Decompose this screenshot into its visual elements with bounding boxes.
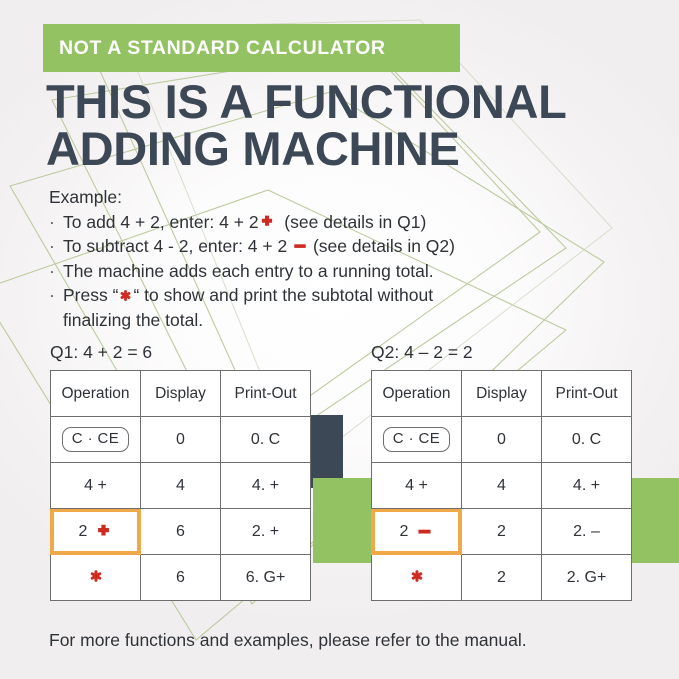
- cell-display: 6: [141, 555, 221, 601]
- cell-operation: C · CE: [51, 417, 141, 463]
- operand-value: 2: [79, 523, 88, 541]
- cell-printout: 2. G+: [542, 555, 632, 601]
- calc-table-q2: Operation Display Print-Out C · CE 0 0. …: [371, 370, 632, 601]
- footer-note: For more functions and examples, please …: [49, 630, 527, 651]
- clear-entry-key[interactable]: C · CE: [62, 427, 129, 451]
- example-bullet-4: ·Press “ “ to show and print the subtota…: [49, 283, 649, 332]
- plus-key-icon: [95, 523, 112, 540]
- page-title-line-2: ADDING MACHINE: [46, 125, 656, 172]
- star-key-icon: [88, 568, 104, 584]
- cell-printout: 2. –: [542, 509, 632, 555]
- page-title-line-1: THIS IS A FUNCTIONAL: [46, 78, 656, 125]
- table-row: C · CE 0 0. C: [372, 417, 632, 463]
- table-row: 4 + 4 4. +: [51, 463, 311, 509]
- cell-display: 2: [462, 555, 542, 601]
- cell-printout: 6. G+: [221, 555, 311, 601]
- column-header-operation: Operation: [372, 371, 462, 417]
- bullet-2-text-after: (see details in Q2): [313, 236, 455, 256]
- banner-label: NOT A STANDARD CALCULATOR: [43, 37, 386, 60]
- cell-printout: 4. +: [221, 463, 311, 509]
- bullet-dot: ·: [49, 210, 63, 235]
- operation-entry: 2: [79, 523, 113, 541]
- table-row: 6 6. G+: [51, 555, 311, 601]
- minus-key-icon: [416, 523, 433, 540]
- table-block-q2: Q2: 4 – 2 = 2 Operation Display Print-Ou…: [371, 342, 632, 601]
- cell-operation: [51, 555, 141, 601]
- column-header-display: Display: [462, 371, 542, 417]
- column-header-operation: Operation: [51, 371, 141, 417]
- table-caption-q1: Q1: 4 + 2 = 6: [50, 342, 311, 363]
- bullet-2-text-before: To subtract 4 - 2, enter: 4 + 2: [63, 236, 287, 256]
- bullet-dot: ·: [49, 259, 63, 284]
- calc-table-q1: Operation Display Print-Out C · CE 0 0. …: [50, 370, 311, 601]
- bullet-4-text-before: Press “: [63, 285, 118, 305]
- bullet-1-text-before: To add 4 + 2, enter: 4 + 2: [63, 212, 259, 232]
- example-block: Example: ·To add 4 + 2, enter: 4 + 2 (se…: [49, 185, 649, 332]
- star-key-icon: [409, 568, 425, 584]
- bullet-dot: ·: [49, 234, 63, 259]
- operand-value: 2: [400, 523, 409, 541]
- column-header-display: Display: [141, 371, 221, 417]
- example-bullet-1: ·To add 4 + 2, enter: 4 + 2 (see details…: [49, 210, 649, 235]
- table-row: 4 + 4 4. +: [372, 463, 632, 509]
- header-banner: NOT A STANDARD CALCULATOR: [43, 24, 460, 72]
- star-key-icon: [118, 288, 133, 303]
- operation-entry: 2: [400, 523, 434, 541]
- cell-display: 2: [462, 509, 542, 555]
- cell-printout: 0. C: [221, 417, 311, 463]
- cell-operation: C · CE: [372, 417, 462, 463]
- table-block-q1: Q1: 4 + 2 = 6 Operation Display Print-Ou…: [50, 342, 311, 601]
- cell-operation: 4 +: [372, 463, 462, 509]
- table-row: 2 6 2. +: [51, 509, 311, 555]
- bullet-1-text-after: (see details in Q1): [284, 212, 426, 232]
- bullet-4-text-after: “ to show and print the subtotal without: [133, 285, 433, 305]
- table-header-row: Operation Display Print-Out: [372, 371, 632, 417]
- column-header-printout: Print-Out: [542, 371, 632, 417]
- page-title: THIS IS A FUNCTIONAL ADDING MACHINE: [46, 78, 656, 172]
- cell-operation-highlighted: 2: [372, 509, 462, 555]
- cell-display: 6: [141, 509, 221, 555]
- infographic-page: NOT A STANDARD CALCULATOR THIS IS A FUNC…: [0, 0, 679, 679]
- clear-entry-key[interactable]: C · CE: [383, 427, 450, 451]
- bullet-dot: ·: [49, 283, 63, 308]
- cell-printout: 0. C: [542, 417, 632, 463]
- cell-operation: 4 +: [51, 463, 141, 509]
- table-row: C · CE 0 0. C: [51, 417, 311, 463]
- minus-key-icon: [292, 238, 308, 254]
- cell-operation-highlighted: 2: [51, 509, 141, 555]
- table-row: 2 2 2. –: [372, 509, 632, 555]
- cell-printout: 2. +: [221, 509, 311, 555]
- cell-display: 4: [141, 463, 221, 509]
- cell-operation: [372, 555, 462, 601]
- example-bullet-2: ·To subtract 4 - 2, enter: 4 + 2 (see de…: [49, 234, 649, 259]
- plus-key-icon: [259, 214, 275, 230]
- example-heading: Example:: [49, 185, 649, 210]
- column-header-printout: Print-Out: [221, 371, 311, 417]
- table-row: 2 2. G+: [372, 555, 632, 601]
- cell-display: 0: [462, 417, 542, 463]
- table-caption-q2: Q2: 4 – 2 = 2: [371, 342, 632, 363]
- cell-display: 4: [462, 463, 542, 509]
- table-header-row: Operation Display Print-Out: [51, 371, 311, 417]
- bullet-3-text: The machine adds each entry to a running…: [63, 261, 434, 281]
- cell-display: 0: [141, 417, 221, 463]
- cell-printout: 4. +: [542, 463, 632, 509]
- bullet-4-continuation: finalizing the total.: [49, 308, 649, 333]
- example-bullet-3: ·The machine adds each entry to a runnin…: [49, 259, 649, 284]
